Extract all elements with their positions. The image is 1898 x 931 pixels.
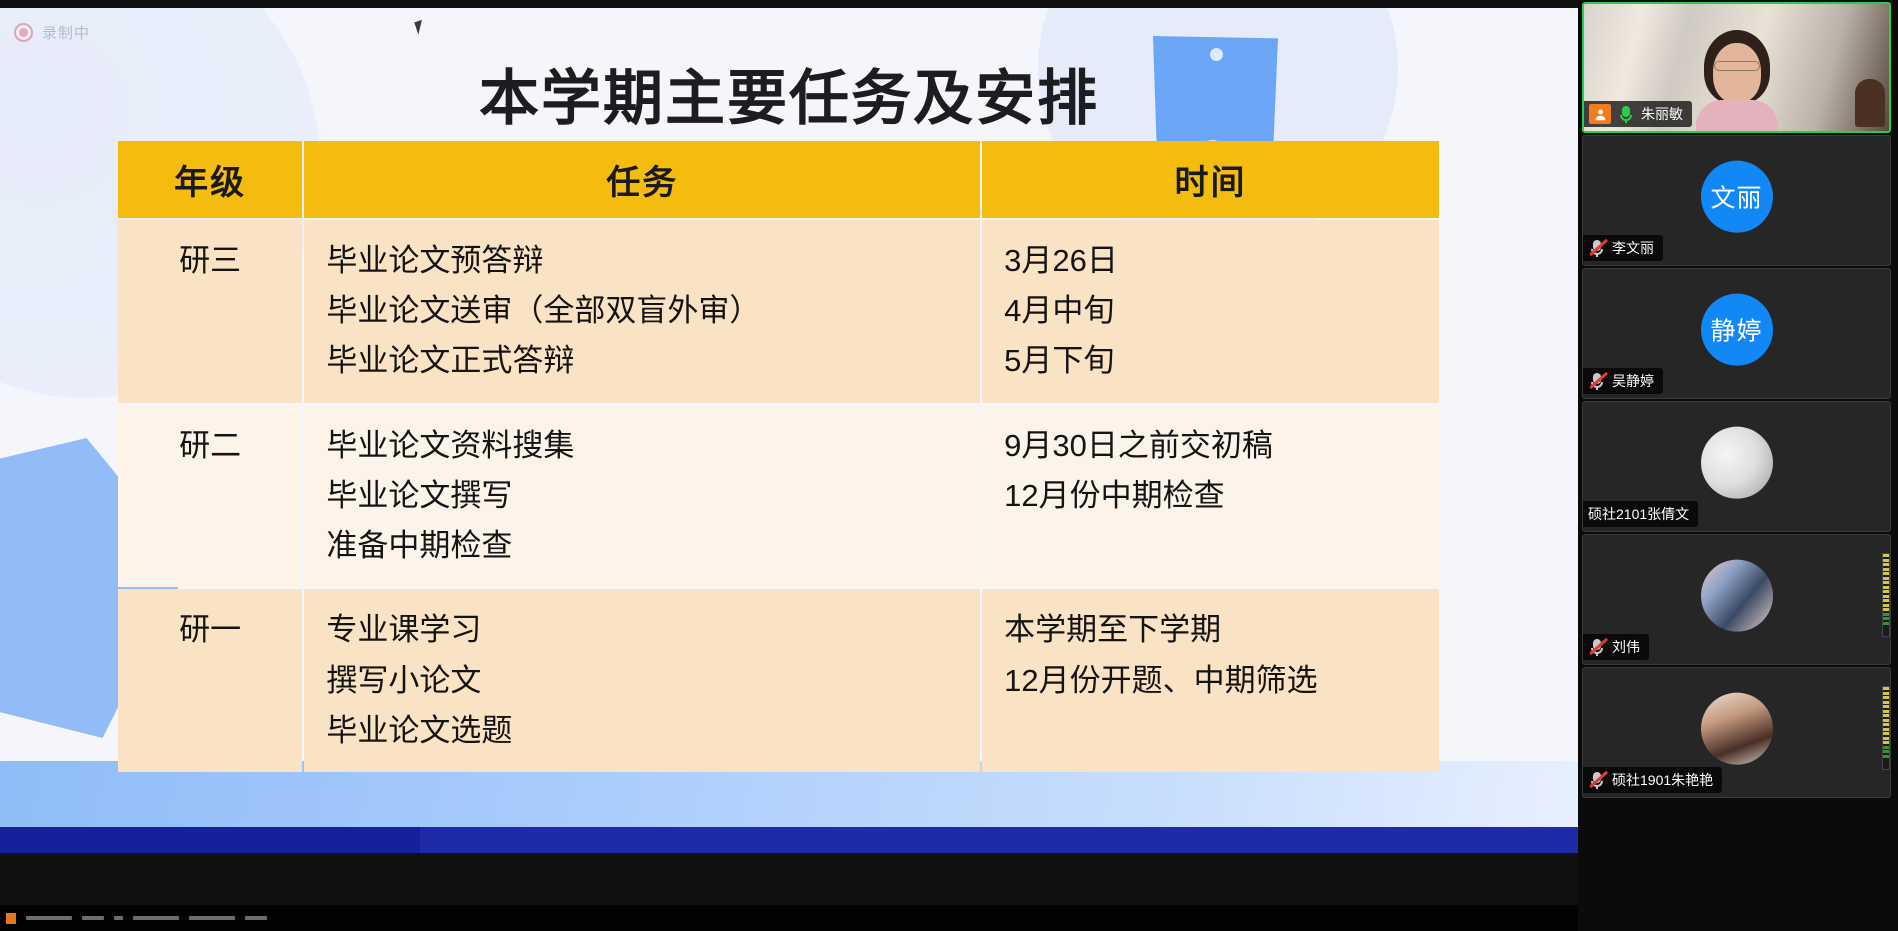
task-line: 撰写小论文 [326, 656, 958, 706]
avatar [1701, 426, 1773, 498]
schedule-table: 年级 任务 时间 研三 毕业论文预答辩 毕业论文送审（全部双盲外审） [116, 139, 1441, 774]
participant-name-chip: 硕社1901朱艳艳 [1583, 767, 1722, 793]
taskbar-item[interactable] [133, 916, 179, 920]
participant-video-rail[interactable]: 朱丽敏 文丽 李文丽 静婷 吴静婷 [1578, 0, 1898, 931]
participant-tile[interactable]: 文丽 李文丽 [1582, 135, 1891, 266]
host-icon [1589, 104, 1611, 124]
shared-screen-area: 录制中 本学期主要任务及安排 年级 任务 时间 研三 [0, 0, 1578, 931]
taskbar-item[interactable] [189, 916, 235, 920]
participant-name: 吴静婷 [1612, 371, 1654, 391]
recording-label: 录制中 [42, 22, 90, 43]
time-line: 12月份开题、中期筛选 [1004, 656, 1417, 706]
audio-level-meter [1882, 553, 1890, 637]
task-line: 毕业论文正式答辩 [326, 336, 958, 386]
taskbar-item[interactable] [245, 916, 267, 920]
task-line: 专业课学习 [326, 605, 958, 655]
participant-name: 李文丽 [1612, 238, 1654, 258]
time-line: 本学期至下学期 [1004, 605, 1417, 655]
table-row: 研三 毕业论文预答辩 毕业论文送审（全部双盲外审） 毕业论文正式答辩 [118, 220, 1439, 403]
participant-tile[interactable]: 硕社2101张倩文 [1582, 401, 1891, 532]
decorative-bottom-bar-2 [0, 827, 420, 853]
cell-grade: 研一 [118, 589, 302, 772]
task-line: 毕业论文送审（全部双盲外审） [326, 286, 958, 336]
avatar: 静婷 [1701, 293, 1773, 365]
column-header-task: 任务 [304, 141, 980, 218]
meeting-screen: 录制中 本学期主要任务及安排 年级 任务 时间 研三 [0, 0, 1898, 931]
table-row: 研二 毕业论文资料搜集 毕业论文撰写 准备中期检查 9月30日之 [118, 405, 1439, 588]
cell-tasks: 毕业论文资料搜集 毕业论文撰写 准备中期检查 [304, 405, 980, 588]
participant-name-chip: 刘伟 [1583, 634, 1649, 660]
schedule-table-wrapper: 年级 任务 时间 研三 毕业论文预答辩 毕业论文送审（全部双盲外审） [116, 139, 1441, 774]
microphone-on-icon [1617, 104, 1635, 124]
avatar [1701, 692, 1773, 764]
taskbar-item[interactable] [114, 916, 123, 920]
table-header-row: 年级 任务 时间 [118, 141, 1439, 218]
windows-taskbar[interactable] [0, 905, 1578, 931]
time-line: 9月30日之前交初稿 [1004, 421, 1417, 471]
participant-tile[interactable]: 朱丽敏 [1582, 2, 1891, 133]
taskbar-item[interactable] [26, 916, 72, 920]
task-line: 毕业论文资料搜集 [326, 421, 958, 471]
mouse-cursor [414, 18, 430, 34]
column-header-grade: 年级 [118, 141, 302, 218]
task-line: 准备中期检查 [326, 521, 958, 571]
decorative-bottom-band [0, 761, 1578, 853]
audio-level-meter [1882, 686, 1890, 770]
participant-name: 朱丽敏 [1641, 104, 1683, 124]
microphone-muted-icon [1588, 238, 1606, 258]
time-line: 5月下旬 [1004, 336, 1417, 386]
glasses-icon [1714, 61, 1760, 71]
participant-tile[interactable]: 静婷 吴静婷 [1582, 268, 1891, 399]
recording-indicator: 录制中 [14, 22, 90, 43]
background-object [1855, 79, 1885, 127]
presentation-slide: 录制中 本学期主要任务及安排 年级 任务 时间 研三 [0, 8, 1578, 853]
taskbar-item[interactable] [82, 916, 104, 920]
task-line: 毕业论文撰写 [326, 471, 958, 521]
table-row: 研一 专业课学习 撰写小论文 毕业论文选题 本学期至下学期 [118, 589, 1439, 772]
participant-name: 刘伟 [1612, 637, 1640, 657]
cell-grade: 研二 [118, 405, 302, 588]
microphone-muted-icon [1588, 770, 1606, 790]
cell-grade: 研三 [118, 220, 302, 403]
cell-times: 9月30日之前交初稿 12月份中期检查 [982, 405, 1439, 588]
decorative-bottom-bar [0, 827, 1578, 853]
page-title: 本学期主要任务及安排 [0, 50, 1578, 137]
task-line: 毕业论文选题 [326, 706, 958, 756]
cell-tasks: 毕业论文预答辩 毕业论文送审（全部双盲外审） 毕业论文正式答辩 [304, 220, 980, 403]
record-icon [14, 23, 33, 42]
participant-name-chip: 吴静婷 [1583, 368, 1663, 394]
time-line: 3月26日 [1004, 236, 1417, 286]
cell-times: 3月26日 4月中旬 5月下旬 [982, 220, 1439, 403]
participant-name-chip: 朱丽敏 [1584, 101, 1692, 127]
participant-name: 硕社1901朱艳艳 [1612, 770, 1713, 790]
cell-times: 本学期至下学期 12月份开题、中期筛选 [982, 589, 1439, 772]
microphone-muted-icon [1588, 637, 1606, 657]
avatar: 文丽 [1701, 160, 1773, 232]
person-silhouette [1694, 30, 1780, 133]
participant-tile[interactable]: 刘伟 [1582, 534, 1891, 665]
time-line: 4月中旬 [1004, 286, 1417, 336]
participant-name: 硕社2101张倩文 [1588, 504, 1689, 524]
start-button-icon[interactable] [6, 913, 16, 924]
task-line: 毕业论文预答辩 [326, 236, 958, 286]
participant-tile[interactable]: 硕社1901朱艳艳 [1582, 667, 1891, 798]
cell-tasks: 专业课学习 撰写小论文 毕业论文选题 [304, 589, 980, 772]
time-line: 12月份中期检查 [1004, 471, 1417, 521]
column-header-time: 时间 [982, 141, 1439, 218]
avatar [1701, 559, 1773, 631]
participant-name-chip: 李文丽 [1583, 235, 1663, 261]
microphone-muted-icon [1588, 371, 1606, 391]
participant-name-chip: 硕社2101张倩文 [1583, 501, 1698, 527]
